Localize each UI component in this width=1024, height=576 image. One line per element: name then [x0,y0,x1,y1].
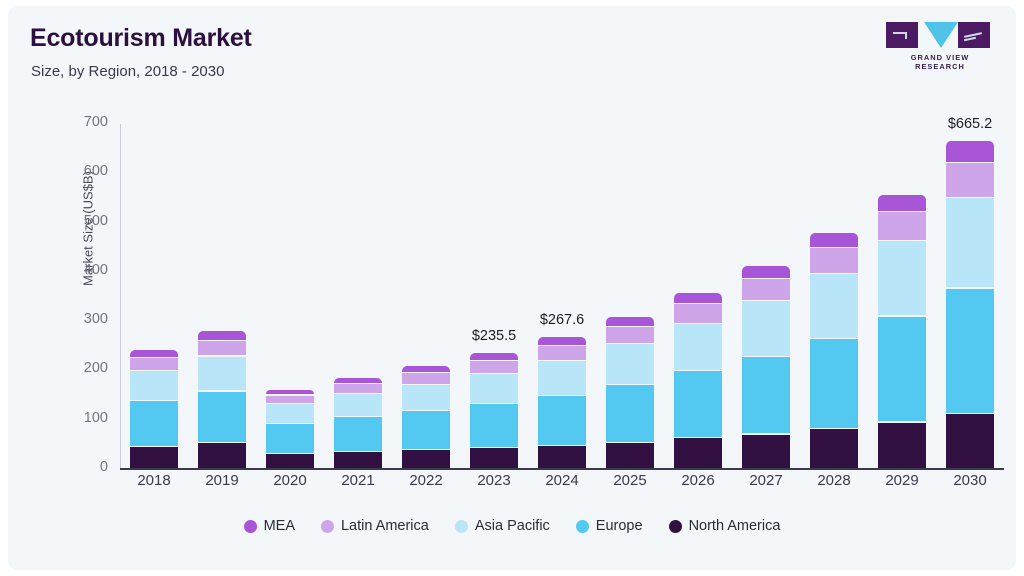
logo-square-left-icon [886,22,918,48]
bar-segment[interactable] [878,317,926,422]
bar-segment[interactable] [810,233,858,247]
legend-label: MEA [264,518,295,534]
x-axis-tick-label: 2023 [460,472,528,489]
y-axis-tick-label: 300 [64,311,108,327]
legend-color-swatch-icon [321,520,334,533]
bar-segment[interactable] [402,411,450,449]
bar-segment[interactable] [946,141,994,162]
x-axis-tick-label: 2020 [256,472,324,489]
bar-segment[interactable] [198,341,246,356]
bar-segment[interactable] [402,450,450,468]
bar-segment[interactable] [810,429,858,468]
bar-segment[interactable] [606,443,654,468]
bar-segment[interactable] [742,266,790,278]
page-subtitle: Size, by Region, 2018 - 2030 [31,63,224,80]
legend-color-swatch-icon [576,520,589,533]
legend-label: Latin America [341,518,429,534]
bar-group[interactable] [606,124,654,469]
bar-segment[interactable] [742,279,790,300]
bar-segment[interactable] [402,373,450,384]
bar-segment[interactable] [402,385,450,410]
bar-segment[interactable] [130,358,178,370]
bar-value-label: $235.5 [449,328,539,344]
bar-segment[interactable] [334,378,382,383]
legend-item[interactable]: North America [669,518,781,534]
bar-segment[interactable] [130,401,178,445]
logo-wordmark: GRAND VIEW RESEARCH [886,53,994,71]
bar-group[interactable] [878,124,926,469]
legend-item[interactable]: MEA [244,518,295,534]
bar-segment[interactable] [538,361,586,395]
bar-segment[interactable] [606,317,654,326]
bar-segment[interactable] [742,301,790,355]
bar-segment[interactable] [606,344,654,384]
bar-group[interactable] [266,124,314,469]
x-axis-tick-label: 2027 [732,472,800,489]
bar-segment[interactable] [538,337,586,345]
bar-segment[interactable] [334,417,382,450]
bar-segment[interactable] [470,361,518,373]
y-axis-tick-label: 400 [64,262,108,278]
bar-segment[interactable] [878,241,926,316]
bar-group[interactable] [742,124,790,469]
legend-label: Asia Pacific [475,518,550,534]
bar-segment[interactable] [810,339,858,428]
bar-group[interactable] [470,124,518,469]
bar-segment[interactable] [130,447,178,468]
bar-segment[interactable] [674,293,722,303]
bar-segment[interactable] [946,198,994,287]
bar-group[interactable] [402,124,450,469]
bar-segment[interactable] [946,163,994,197]
bar-segment[interactable] [470,404,518,446]
chart-legend: MEALatin AmericaAsia PacificEuropeNorth … [8,518,1016,534]
bar-segment[interactable] [198,443,246,467]
bar-segment[interactable] [266,454,314,468]
legend-label: North America [689,518,781,534]
x-axis-tick-label: 2026 [664,472,732,489]
bar-group[interactable] [946,124,994,469]
y-axis-tick-label: 200 [64,360,108,376]
bar-segment[interactable] [198,331,246,339]
page-title: Ecotourism Market [30,24,252,53]
y-axis-tick-label: 500 [64,213,108,229]
bar-segment[interactable] [946,414,994,468]
bar-segment[interactable] [470,353,518,360]
bar-segment[interactable] [946,289,994,413]
bar-segment[interactable] [742,435,790,468]
bar-group[interactable] [674,124,722,469]
legend-item[interactable]: Latin America [321,518,429,534]
bar-segment[interactable] [266,390,314,394]
bar-segment[interactable] [810,248,858,272]
chart-card: Ecotourism Market Size, by Region, 2018 … [8,6,1016,570]
x-axis-tick-label: 2024 [528,472,596,489]
y-axis-tick-label: 600 [64,163,108,179]
bar-segment[interactable] [130,350,178,357]
bar-segment[interactable] [470,448,518,468]
y-axis-tick-label: 0 [64,459,108,475]
x-axis-tick-label: 2021 [324,472,392,489]
bar-segment[interactable] [878,423,926,468]
bar-segment[interactable] [334,394,382,416]
bar-segment[interactable] [878,195,926,211]
x-axis-tick-label: 2030 [936,472,1004,489]
bar-segment[interactable] [266,396,314,404]
bar-segment[interactable] [674,438,722,467]
bar-group[interactable] [198,124,246,469]
x-axis-tick-label: 2019 [188,472,256,489]
bar-segment[interactable] [538,396,586,445]
legend-color-swatch-icon [455,520,468,533]
bar-segment[interactable] [674,324,722,370]
bar-segment[interactable] [470,374,518,403]
bar-group[interactable] [130,124,178,469]
x-axis-tick-label: 2025 [596,472,664,489]
bar-segment[interactable] [266,424,314,452]
y-axis-tick-label: 700 [64,114,108,130]
bar-segment[interactable] [606,327,654,343]
bar-value-label: $267.6 [517,312,607,328]
legend-color-swatch-icon [669,520,682,533]
bar-segment[interactable] [538,346,586,360]
bar-segment[interactable] [402,366,450,372]
legend-item[interactable]: Asia Pacific [455,518,550,534]
grand-view-research-logo: GRAND VIEW RESEARCH [886,22,994,68]
bar-group[interactable] [334,124,382,469]
bar-segment[interactable] [198,392,246,443]
bar-segment[interactable] [742,357,790,433]
legend-label: Europe [596,518,643,534]
legend-item[interactable]: Europe [576,518,643,534]
bar-segment[interactable] [878,212,926,240]
bar-segment[interactable] [130,371,178,400]
bar-segment[interactable] [674,304,722,323]
bar-group[interactable] [810,124,858,469]
bar-segment[interactable] [810,274,858,338]
bar-segment[interactable] [334,384,382,393]
bar-segment[interactable] [334,452,382,468]
bar-segment[interactable] [674,371,722,437]
logo-glyph-g-stem [905,32,907,39]
x-axis-tick-label: 2022 [392,472,460,489]
bar-group[interactable] [538,124,586,469]
bar-segment[interactable] [198,357,246,391]
x-axis-tick-label: 2029 [868,472,936,489]
legend-color-swatch-icon [244,520,257,533]
bar-segment[interactable] [538,446,586,468]
logo-triangle-icon [924,22,958,48]
bar-segment[interactable] [266,404,314,423]
bar-segment[interactable] [606,385,654,441]
x-axis-tick-label: 2018 [120,472,188,489]
bar-value-label: $665.2 [925,116,1015,132]
plot-area: 2018201920202021202220232024202520262027… [120,124,1004,469]
x-axis-tick-label: 2028 [800,472,868,489]
y-axis-tick-label: 100 [64,410,108,426]
